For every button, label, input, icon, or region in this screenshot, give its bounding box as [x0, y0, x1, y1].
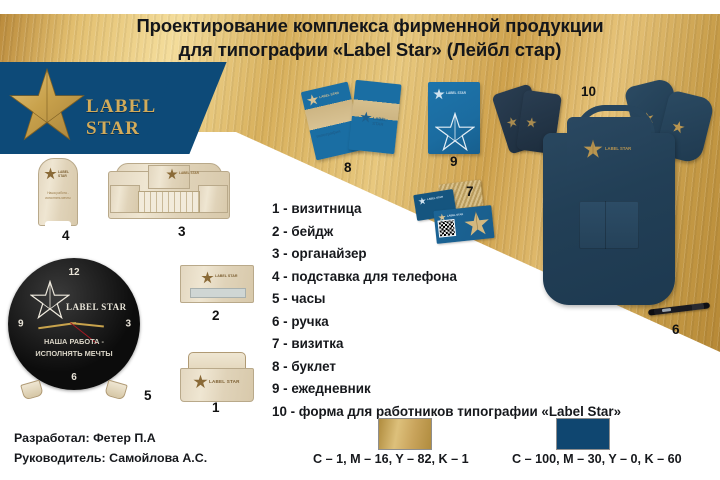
brand-logo-panel: LABEL STAR [0, 62, 178, 154]
star-icon [201, 271, 214, 284]
title-line-2: для типографии «Label Star» (Лейбл стар) [60, 38, 680, 62]
title-line-1: Проектирование комплекса фирменной проду… [60, 14, 680, 38]
phone-stand-brand: LABEL STAR [58, 170, 77, 178]
star-icon [8, 66, 86, 144]
product-apron: LABEL STAR [535, 105, 683, 305]
developer-line: Разработал: Фетер П.А [14, 428, 207, 448]
callout-7: 7 [466, 184, 474, 199]
clock-brand: LABEL STAR [66, 302, 127, 312]
swatch-blue-wrap [556, 418, 610, 450]
callout-6: 6 [672, 322, 680, 337]
product-organizer: LABEL STAR [108, 163, 228, 217]
clock-hour-12: 12 [68, 267, 79, 278]
badge-name-slot [190, 288, 246, 298]
color-swatch-gold [378, 418, 432, 450]
business-card-brand: LABEL STAR [427, 196, 443, 201]
product-notebook: LABEL STAR [428, 82, 480, 154]
clock-motto: НАША РАБОТА - ИСПОЛНЯТЬ МЕЧТЫ [24, 336, 124, 360]
organizer-left-tray [110, 185, 140, 213]
booklet-caption: типография [316, 128, 342, 139]
star-icon [30, 280, 70, 320]
callout-2: 2 [212, 308, 220, 323]
star-icon [166, 168, 178, 180]
product-phone-stand: LABEL STAR Наша работа - исполнять мечты [38, 158, 78, 226]
product-card-holder: LABEL STAR [180, 352, 252, 400]
clock-hour-9: 9 [18, 319, 24, 330]
list-item: 10 - форма для работников типографии «La… [272, 405, 692, 418]
star-icon [435, 112, 475, 152]
brand-logo-text: LABEL STAR [86, 96, 178, 140]
business-card-qr-brand: LABEL STAR [447, 213, 463, 218]
booklet-b-brand: LABEL STAR [372, 116, 398, 129]
list-item: 6 - ручка [272, 315, 692, 328]
cmyk-gold-label: C – 1, M – 16, Y – 82, K – 1 [313, 452, 469, 466]
callout-3: 3 [178, 224, 186, 239]
callout-8: 8 [344, 160, 352, 175]
organizer-grid [138, 191, 200, 213]
star-icon [463, 209, 492, 238]
product-business-card-qr: LABEL STAR [433, 205, 494, 244]
star-icon [44, 167, 57, 180]
booklet-brand: LABEL STAR [319, 91, 339, 99]
badge-brand: LABEL STAR [215, 274, 237, 278]
card-holder-front [180, 368, 254, 402]
star-icon [583, 139, 603, 159]
callout-5: 5 [144, 388, 152, 403]
organizer-right-tray [198, 185, 228, 213]
organizer-brand: LABEL STAR [179, 171, 199, 175]
callout-9: 9 [450, 154, 458, 169]
slide-title: Проектирование комплекса фирменной проду… [60, 14, 680, 63]
callout-10: 10 [581, 84, 596, 99]
apron-pocket [579, 201, 639, 249]
star-icon [505, 115, 519, 129]
slide-canvas: Проектирование комплекса фирменной проду… [0, 0, 720, 480]
supervisor-line: Руководитель: Самойлова А.С. [14, 448, 207, 468]
footer-credits: Разработал: Фетер П.А Руководитель: Само… [14, 428, 207, 468]
star-icon [359, 110, 372, 123]
list-item: 9 - ежедневник [272, 382, 692, 395]
clock-stand [14, 382, 134, 398]
phone-stand-motto: Наша работа - исполнять мечты [44, 191, 72, 201]
list-item: 7 - визитка [272, 337, 692, 350]
card-holder-brand: LABEL STAR [209, 379, 240, 384]
star-icon [433, 88, 445, 100]
swatch-gold-wrap [378, 418, 432, 450]
list-item: 8 - буклет [272, 360, 692, 373]
product-badge: LABEL STAR [180, 265, 254, 303]
product-booklet-b: LABEL STAR [348, 80, 401, 154]
qr-code-icon [437, 219, 456, 238]
cmyk-blue-label: C – 100, M – 30, Y – 0, K – 60 [512, 452, 682, 466]
apron-brand: LABEL STAR [605, 146, 631, 151]
white-top-strip [0, 0, 720, 14]
notebook-brand: LABEL STAR [446, 91, 466, 95]
star-icon [418, 196, 427, 205]
product-clock: LABEL STAR 12 3 6 9 НАША РАБОТА - ИСПОЛН… [8, 258, 140, 390]
star-icon [193, 374, 208, 389]
callout-1: 1 [212, 400, 220, 415]
star-icon [438, 213, 447, 222]
color-swatch-blue [556, 418, 610, 450]
clock-hour-3: 3 [125, 319, 131, 330]
callout-4: 4 [62, 228, 70, 243]
